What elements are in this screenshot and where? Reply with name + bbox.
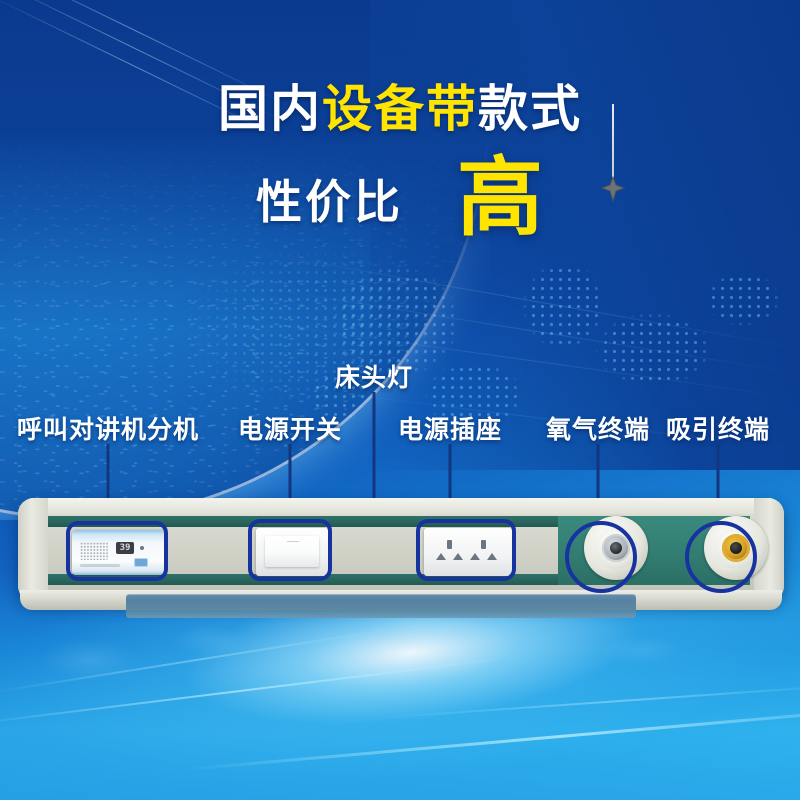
highlight-box-power-switch xyxy=(248,519,332,581)
panel-top-highlight xyxy=(18,498,784,514)
callout-label-oxygen-terminal: 氧气终端 xyxy=(546,410,650,446)
highlight-circle-oxygen xyxy=(565,521,637,593)
callout-group: 呼叫对讲机分机 电源开关 床头灯 电源插座 氧气终端 吸引终端 xyxy=(0,0,800,800)
pull-cord-weight[interactable] xyxy=(600,176,626,202)
cross-weight-icon xyxy=(600,176,626,202)
highlight-box-intercom xyxy=(66,521,168,581)
callout-label-intercom: 呼叫对讲机分机 xyxy=(17,410,199,446)
pull-cord[interactable] xyxy=(612,104,614,182)
callout-label-suction-terminal: 吸引终端 xyxy=(666,410,770,446)
panel-end-cap-left xyxy=(18,498,48,602)
highlight-box-power-socket xyxy=(416,519,516,581)
callout-label-bed-lamp: 床头灯 xyxy=(335,358,413,394)
highlight-circle-suction xyxy=(685,521,757,593)
callout-label-power-socket: 电源插座 xyxy=(398,410,502,446)
panel-glass-strip xyxy=(126,594,636,618)
callout-label-power-switch: 电源开关 xyxy=(238,410,342,446)
promo-banner: 国内设备带款式 性价比 高 呼叫对讲机分机 电源开关 床头灯 电源插座 氧气终端… xyxy=(0,0,800,800)
